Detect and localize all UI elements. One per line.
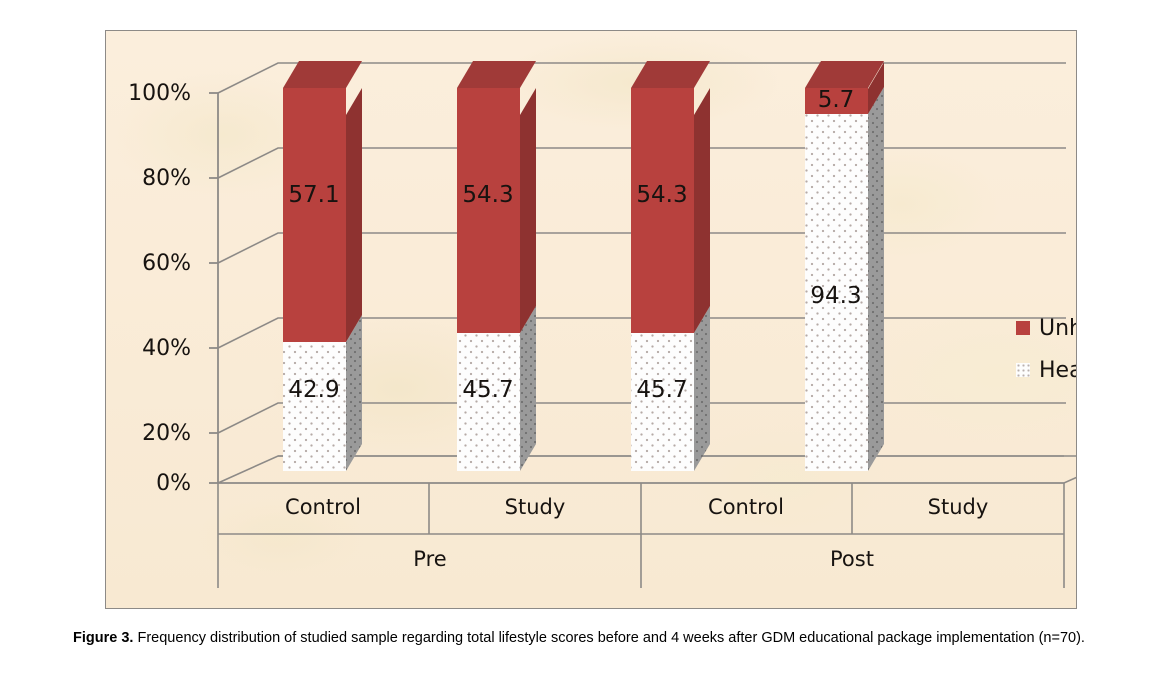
- figure-caption: Figure 3. Frequency distribution of stud…: [38, 628, 1120, 649]
- value-axis: [209, 93, 218, 483]
- bar-pre-control[interactable]: [283, 61, 362, 471]
- x-tick-pre-control: Control: [248, 495, 398, 519]
- y-tick-40: 40%: [105, 336, 191, 361]
- x-tick-pre-study: Study: [460, 495, 610, 519]
- chart-legend: Unhealthy Healthy: [1016, 307, 1077, 391]
- data-label-healthy-4: 94.3: [791, 283, 881, 309]
- bar-pre-study[interactable]: [457, 61, 536, 471]
- figure-caption-label: Figure 3.: [73, 630, 133, 646]
- figure-container: 100% 80% 60% 40% 20% 0% 57.1 54.3 54.3 5…: [0, 0, 1157, 685]
- y-tick-0: 0%: [105, 471, 191, 496]
- y-tick-20: 20%: [105, 421, 191, 446]
- x-group-post: Post: [752, 547, 952, 571]
- y-tick-80: 80%: [105, 166, 191, 191]
- legend-item-unhealthy[interactable]: Unhealthy: [1016, 307, 1077, 349]
- data-label-unhealthy-2: 54.3: [443, 182, 533, 208]
- data-label-healthy-2: 45.7: [443, 377, 533, 403]
- legend-swatch-healthy-icon: [1016, 363, 1030, 377]
- legend-swatch-unhealthy-icon: [1016, 321, 1030, 335]
- x-tick-post-control: Control: [671, 495, 821, 519]
- chart-plot-area: [106, 31, 1076, 608]
- data-label-unhealthy-3: 54.3: [617, 182, 707, 208]
- x-group-pre: Pre: [330, 547, 530, 571]
- bar-post-study[interactable]: [805, 61, 884, 471]
- y-tick-60: 60%: [105, 251, 191, 276]
- legend-item-healthy[interactable]: Healthy: [1016, 349, 1077, 391]
- x-tick-post-study: Study: [883, 495, 1033, 519]
- data-label-unhealthy-4: 5.7: [791, 87, 881, 113]
- chart-frame: 100% 80% 60% 40% 20% 0% 57.1 54.3 54.3 5…: [105, 30, 1077, 609]
- legend-label-healthy: Healthy: [1039, 358, 1077, 383]
- data-label-unhealthy-1: 57.1: [269, 182, 359, 208]
- y-tick-100: 100%: [105, 81, 191, 106]
- bar-post-control[interactable]: [631, 61, 710, 471]
- legend-label-unhealthy: Unhealthy: [1039, 316, 1077, 341]
- figure-caption-text: Frequency distribution of studied sample…: [133, 630, 1084, 646]
- data-label-healthy-1: 42.9: [269, 377, 359, 403]
- data-label-healthy-3: 45.7: [617, 377, 707, 403]
